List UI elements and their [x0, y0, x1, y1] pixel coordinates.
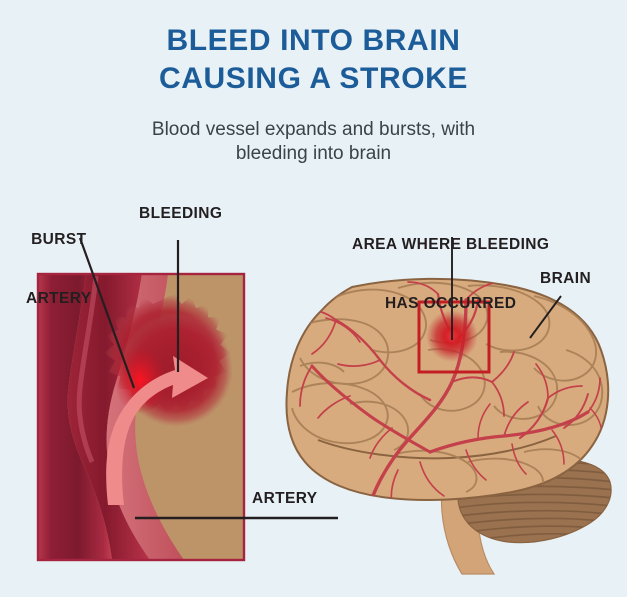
- callout-brain: BRAIN: [540, 269, 591, 289]
- callout-bleeding: BLEEDING: [139, 204, 222, 224]
- callout-burst-artery-line1: BURST: [26, 230, 92, 250]
- callout-bleeding-area-line1: AREA WHERE BLEEDING: [352, 235, 549, 255]
- callout-bleeding-area: AREA WHERE BLEEDING HAS OCCURRED: [352, 195, 549, 354]
- callout-burst-artery: BURST ARTERY: [26, 190, 92, 349]
- page-title: BLEED INTO BRAIN CAUSING A STROKE: [0, 22, 627, 98]
- callout-artery: ARTERY: [252, 489, 318, 509]
- page-subtitle-line2: bleeding into brain: [0, 142, 627, 166]
- page-title-line1: BLEED INTO BRAIN: [0, 22, 627, 60]
- page-title-line2: CAUSING A STROKE: [0, 60, 627, 98]
- page-subtitle: Blood vessel expands and bursts, with bl…: [0, 118, 627, 166]
- infographic-root: BLEED INTO BRAIN CAUSING A STROKE Blood …: [0, 0, 627, 597]
- callout-bleeding-area-line2: HAS OCCURRED: [352, 294, 549, 314]
- callout-burst-artery-line2: ARTERY: [26, 289, 92, 309]
- page-subtitle-line1: Blood vessel expands and bursts, with: [0, 118, 627, 142]
